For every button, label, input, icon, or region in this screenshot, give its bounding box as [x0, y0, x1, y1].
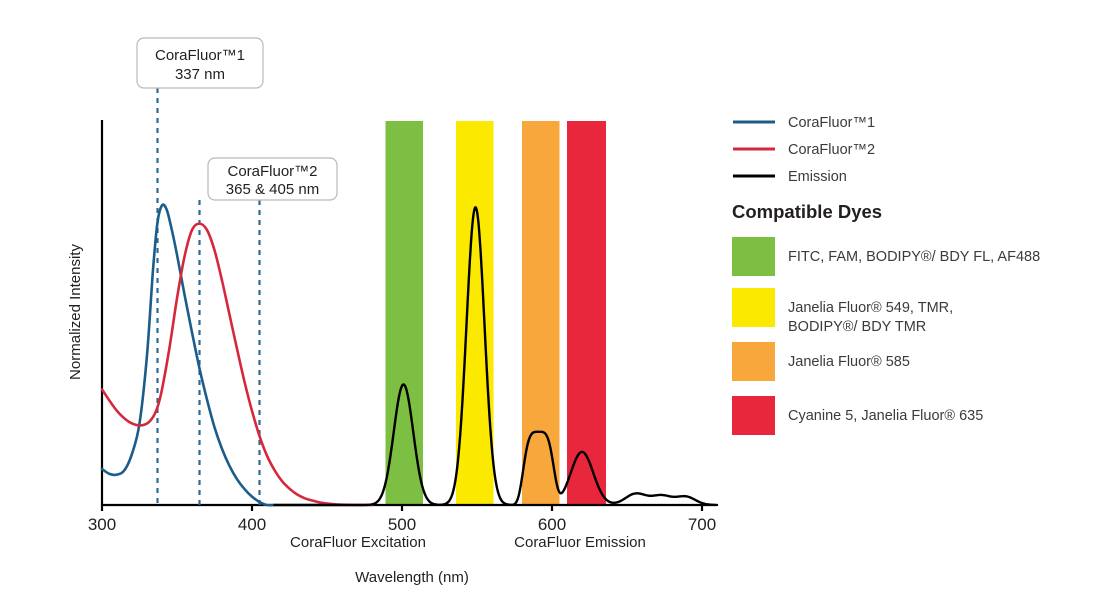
- fluorescence-spectra-figure: 300400500600700 CoraFluor™1337 nmCoraFlu…: [0, 0, 1110, 612]
- callout-1: CoraFluor™1337 nm: [137, 38, 263, 88]
- dye-item-2: Janelia Fluor® 585: [732, 342, 910, 381]
- dye-label-3-0: Cyanine 5, Janelia Fluor® 635: [788, 408, 983, 424]
- curve-excitation-1b5c8a: [102, 205, 275, 506]
- dye-swatch-2: [732, 342, 775, 381]
- callout-value-1: 337 nm: [175, 66, 225, 83]
- series-legend: CoraFluor™1CoraFluor™2Emission: [733, 115, 875, 185]
- dye-label-1-1: BODIPY®/ BDY TMR: [788, 319, 926, 335]
- dye-label-0-0: FITC, FAM, BODIPY®/ BDY FL, AF488: [788, 249, 1040, 265]
- curve-excitation-d6283c: [102, 224, 372, 505]
- region-label-1: CoraFluor Emission: [514, 534, 646, 551]
- dye-swatch-3: [732, 396, 775, 435]
- callout-boxes: CoraFluor™1337 nmCoraFluor™2365 & 405 nm: [137, 38, 337, 200]
- callout-value-2: 365 & 405 nm: [226, 181, 319, 198]
- callout-2: CoraFluor™2365 & 405 nm: [208, 158, 337, 200]
- legend-label-2: Emission: [788, 169, 847, 185]
- callout-title-1: CoraFluor™1: [155, 47, 245, 64]
- yellow-band: [456, 121, 494, 505]
- red-band: [567, 121, 606, 505]
- dye-swatch-1: [732, 288, 775, 327]
- legend-label-1: CoraFluor™2: [788, 142, 875, 158]
- dye-item-1: Janelia Fluor® 549, TMR,BODIPY®/ BDY TMR: [732, 288, 953, 335]
- dye-item-3: Cyanine 5, Janelia Fluor® 635: [732, 396, 983, 435]
- dye-swatch-0: [732, 237, 775, 276]
- emission-bands-group: [386, 121, 607, 505]
- dye-item-0: FITC, FAM, BODIPY®/ BDY FL, AF488: [732, 237, 1040, 276]
- compatible-dyes-heading: Compatible Dyes: [732, 201, 882, 222]
- dye-label-1-0: Janelia Fluor® 549, TMR,: [788, 300, 953, 316]
- dye-label-2-0: Janelia Fluor® 585: [788, 354, 910, 370]
- callout-title-2: CoraFluor™2: [227, 163, 317, 180]
- legend-label-0: CoraFluor™1: [788, 115, 875, 131]
- x-tick-label-700: 700: [688, 515, 716, 534]
- x-axis-title: Wavelength (nm): [355, 569, 469, 586]
- region-label-0: CoraFluor Excitation: [290, 534, 426, 551]
- x-tick-label-400: 400: [238, 515, 266, 534]
- excitation-marker-lines: [158, 88, 260, 505]
- x-tick-label-300: 300: [88, 515, 116, 534]
- x-tick-label-500: 500: [388, 515, 416, 534]
- y-axis-title: Normalized Intensity: [67, 244, 84, 380]
- x-tick-label-600: 600: [538, 515, 566, 534]
- curve-emission-all: [275, 207, 718, 505]
- compatible-dyes-legend: Compatible DyesFITC, FAM, BODIPY®/ BDY F…: [732, 201, 1040, 435]
- x-axis-ticks: 300400500600700: [88, 505, 716, 534]
